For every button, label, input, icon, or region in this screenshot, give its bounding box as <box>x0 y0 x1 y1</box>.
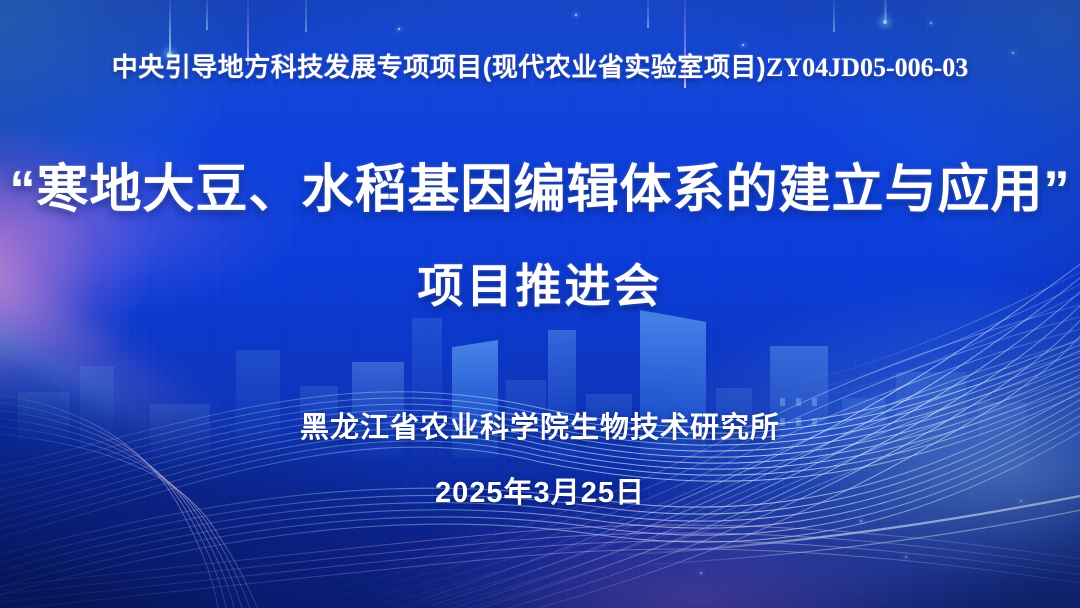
poster-content: 中央引导地方科技发展专项项目(现代农业省实验室项目)ZY04JD05-006-0… <box>0 0 1080 608</box>
project-code-text: ZY04JD05-006-03 <box>766 53 968 82</box>
page-title: “寒地大豆、水稻基因编辑体系的建立与应用” <box>9 147 1070 222</box>
page-subtitle: 项目推进会 <box>418 250 663 316</box>
program-header-line: 中央引导地方科技发展专项项目(现代农业省实验室项目)ZY04JD05-006-0… <box>112 47 969 84</box>
program-name-text: 中央引导地方科技发展专项项目(现代农业省实验室项目) <box>112 52 766 82</box>
conference-poster: 中央引导地方科技发展专项项目(现代农业省实验室项目)ZY04JD05-006-0… <box>0 0 1080 608</box>
event-date: 2025年3月25日 <box>435 469 645 511</box>
organization-name: 黑龙江省农业科学院生物技术研究所 <box>300 404 780 446</box>
